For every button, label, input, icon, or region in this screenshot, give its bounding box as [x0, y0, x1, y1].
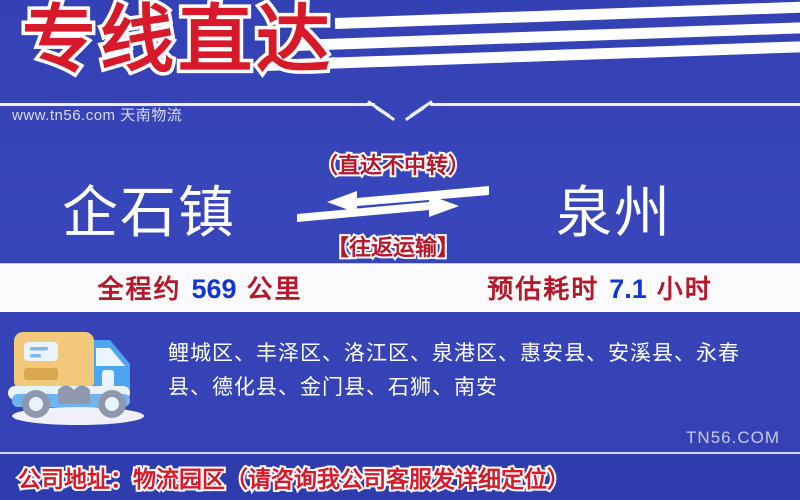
distance-cell: 全程约569公里 [0, 269, 400, 306]
footer-bar: 公司地址：物流园区（请咨询我公司客服发详细定位） [0, 454, 800, 500]
company-address-text: 公司地址：物流园区（请咨询我公司客服发详细定位） [18, 460, 570, 494]
duration-value: 7.1 [609, 274, 647, 304]
duration-label: 预估耗时 [487, 275, 599, 305]
brand-site-line: www.tn56.com 天南物流 [12, 104, 182, 125]
route-tag-top: （直达不中转） [288, 148, 498, 180]
logistics-route-poster: 专线直达 www.tn56.com 天南物流 企石镇 （直达不中转） 【往返运输… [0, 0, 800, 500]
distance-value: 569 [191, 274, 236, 304]
stripe-1 [335, 0, 800, 29]
duration-unit: 小时 [657, 275, 713, 305]
route-tag-bottom: 【往返运输】 [288, 230, 498, 262]
bidirectional-arrow-icon [297, 182, 489, 228]
destination-city: 泉州 [556, 168, 672, 249]
delivery-truck-icon [6, 318, 158, 433]
stripe-2 [295, 21, 800, 51]
duration-cell: 预估耗时7.1小时 [400, 269, 800, 306]
distance-label: 全程约 [97, 275, 181, 305]
route-row: 企石镇 （直达不中转） 【往返运输】 泉州 [0, 160, 800, 255]
route-middle: （直达不中转） 【往返运输】 [288, 148, 498, 262]
poster-headline: 专线直达 [22, 0, 334, 83]
double-chevron-down-icon [366, 96, 434, 120]
divider-line-right [430, 103, 800, 106]
stripe-3 [265, 40, 800, 71]
stats-band: 全程约569公里 预估耗时7.1小时 [0, 263, 800, 312]
distance-unit: 公里 [247, 275, 303, 305]
coverage-area-list: 鲤城区、丰泽区、洛江区、泉港区、惠安县、安溪县、永春县、德化县、金门县、石狮、南… [168, 336, 780, 404]
watermark-label: TN56.COM [686, 428, 780, 448]
origin-city: 企石镇 [62, 168, 236, 249]
